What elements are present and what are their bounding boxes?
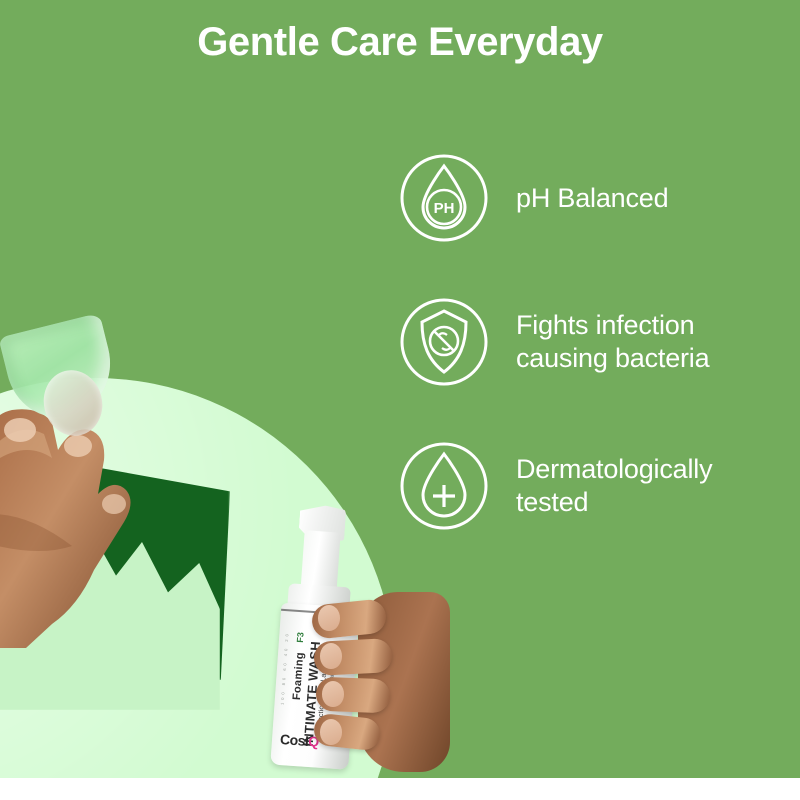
benefits-list: PH pH Balanced Fights infection causing …: [398, 152, 800, 532]
page-title: Gentle Care Everyday: [0, 18, 800, 66]
fingernail-ring: [322, 681, 344, 707]
shield-anti-bacteria-icon: [398, 296, 490, 388]
bottom-white-strip: [0, 778, 800, 800]
benefit-label-fights-bacteria: Fights infection causing bacteria: [516, 309, 709, 375]
benefit-item-fights-bacteria: Fights infection causing bacteria: [398, 296, 800, 388]
ph-droplet-icon: PH: [398, 152, 490, 244]
hand-holding-cup: [0, 318, 216, 648]
droplet-plus-icon: [398, 440, 490, 532]
ph-icon-text: PH: [434, 200, 455, 217]
fingernail-pinky: [320, 719, 342, 745]
pump-neck: [301, 530, 341, 592]
benefit-item-dermatologically-tested: Dermatologically tested: [398, 440, 800, 532]
benefit-label-ph-balanced: pH Balanced: [516, 182, 668, 215]
benefit-label-dermatologically-tested: Dermatologically tested: [516, 453, 712, 519]
hand-holding-bottle: [300, 596, 440, 796]
fingernail-index: [318, 605, 340, 631]
fingernail-middle: [320, 643, 342, 669]
product-poster: Gentle Care Everyday: [0, 0, 800, 800]
benefit-item-ph-balanced: PH pH Balanced: [398, 152, 800, 244]
